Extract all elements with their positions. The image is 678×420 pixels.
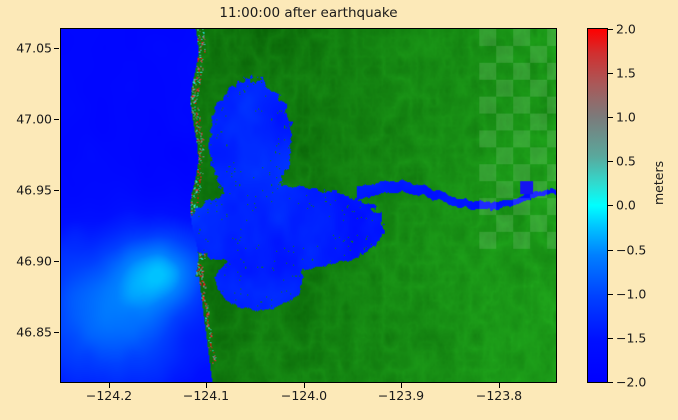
- colorbar-tick-label: 1.5: [616, 66, 636, 81]
- ytick-mark: [54, 48, 59, 49]
- colorbar-tick-mark: [608, 29, 613, 30]
- tsunami-heatmap[interactable]: [61, 29, 556, 382]
- xtick-mark: [206, 383, 207, 388]
- ytick-label: 47.05: [0, 41, 52, 56]
- colorbar-tick-label: 1.0: [616, 110, 636, 125]
- colorbar-tick-mark: [608, 294, 613, 295]
- colorbar-tick-mark: [608, 250, 613, 251]
- ytick-label: 47.00: [0, 112, 52, 127]
- ytick-mark: [54, 332, 59, 333]
- colorbar-tick-label: −2.0: [616, 375, 646, 390]
- ytick-mark: [54, 119, 59, 120]
- xtick-mark: [401, 383, 402, 388]
- colorbar-tick-label: 0.0: [616, 198, 636, 213]
- colorbar-tick-label: −1.0: [616, 287, 646, 302]
- colorbar-tick-mark: [608, 73, 613, 74]
- colorbar-tick-label: 0.5: [616, 154, 636, 169]
- colorbar[interactable]: [587, 28, 608, 383]
- colorbar-tick-label: −0.5: [616, 243, 646, 258]
- ytick-mark: [54, 190, 59, 191]
- colorbar-tick-mark: [608, 117, 613, 118]
- colorbar-tick-mark: [608, 161, 613, 162]
- page-title: 11:00:00 after earthquake: [60, 5, 557, 21]
- xtick-mark: [499, 383, 500, 388]
- xtick-label: −124.0: [281, 388, 327, 403]
- colorbar-axis-label: meters: [651, 161, 666, 205]
- colorbar-tick-mark: [608, 205, 613, 206]
- colorbar-tick-mark: [608, 382, 613, 383]
- ytick-mark: [54, 261, 59, 262]
- xtick-label: −124.2: [86, 388, 132, 403]
- xtick-label: −123.8: [476, 388, 522, 403]
- colorbar-tick-label: −1.5: [616, 331, 646, 346]
- figure-canvas: 11:00:00 after earthquake 47.05 47.00 46…: [0, 0, 678, 420]
- xtick-label: −124.1: [183, 388, 229, 403]
- xtick-mark: [304, 383, 305, 388]
- ytick-label: 46.95: [0, 183, 52, 198]
- xtick-mark: [109, 383, 110, 388]
- map-axes[interactable]: [60, 28, 557, 383]
- colorbar-tick-label: 2.0: [616, 22, 636, 37]
- ytick-label: 46.90: [0, 254, 52, 269]
- ytick-label: 46.85: [0, 325, 52, 340]
- colorbar-tick-mark: [608, 338, 613, 339]
- xtick-label: −123.9: [378, 388, 424, 403]
